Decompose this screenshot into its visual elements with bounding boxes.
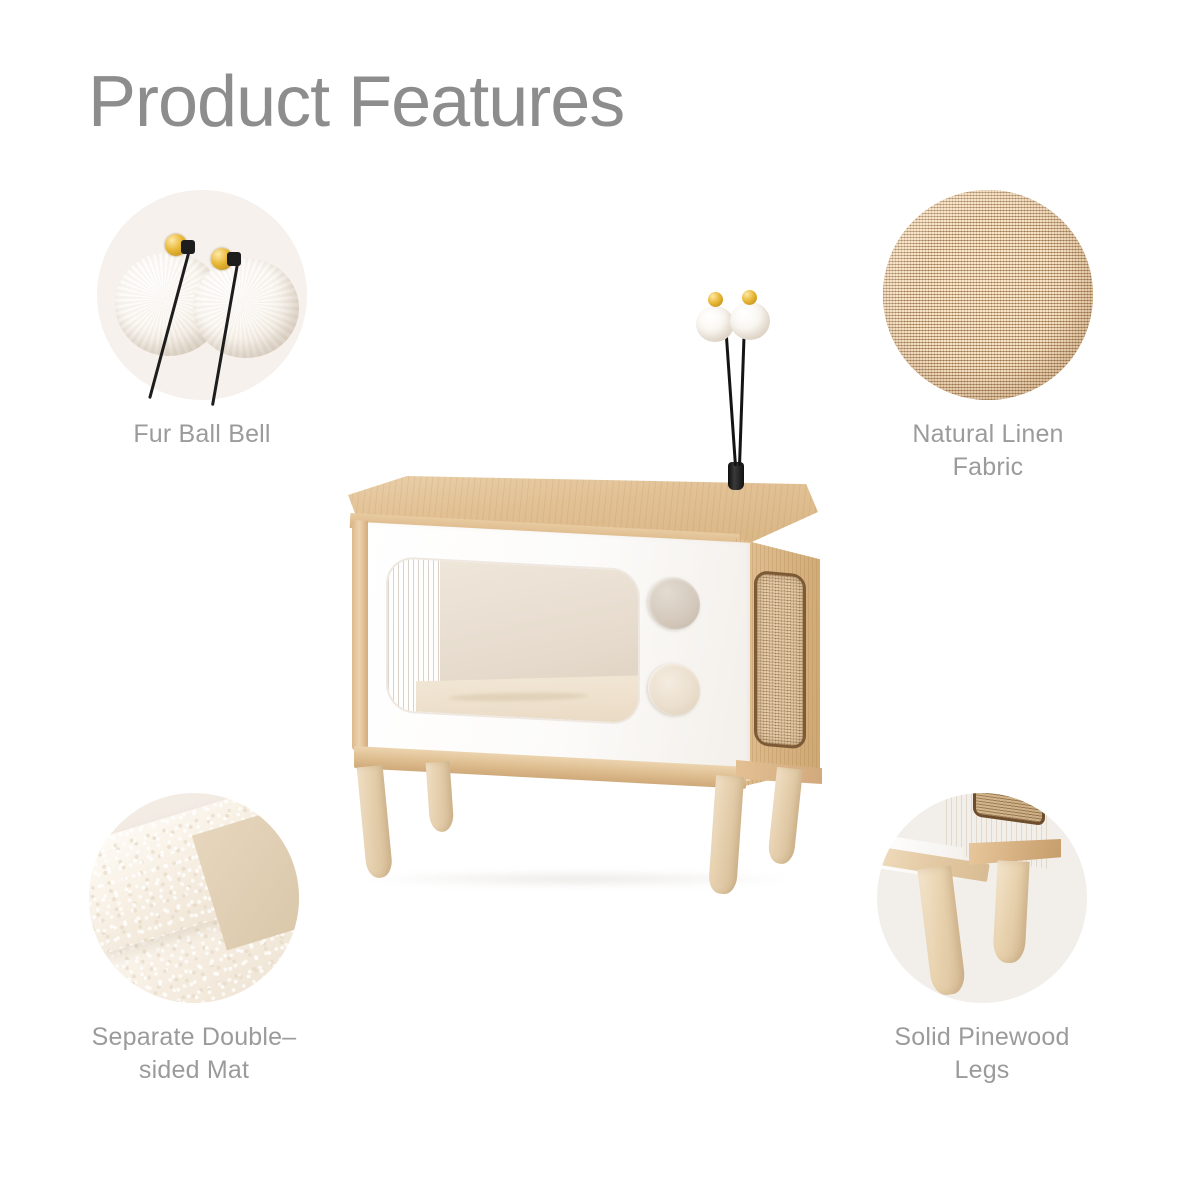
feature-separate-double-sided-mat: Separate Double– sided Mat xyxy=(44,793,344,1087)
mat-label-line-1: Separate Double– xyxy=(44,1021,344,1054)
toy-fur-ball-right xyxy=(730,302,770,340)
pinewood-leg-rear-closeup xyxy=(992,860,1029,964)
legs-label-line-1: Solid Pinewood xyxy=(832,1021,1132,1054)
feature-separate-double-sided-mat-label: Separate Double– sided Mat xyxy=(44,1021,344,1087)
fur-ball-right xyxy=(193,258,299,358)
feature-natural-linen-fabric-label: Natural Linen Fabric xyxy=(838,418,1138,484)
feature-solid-pinewood-legs-label: Solid Pinewood Legs xyxy=(832,1021,1132,1087)
fur-ball-bell-circle-background xyxy=(97,190,307,400)
fur-ball-bell-image xyxy=(97,190,307,400)
feature-fur-ball-bell-label: Fur Ball Bell xyxy=(52,418,352,451)
toy-mount-base xyxy=(728,462,744,490)
toy-fur-ball-left xyxy=(696,306,734,342)
mat-label-line-2: sided Mat xyxy=(44,1054,344,1087)
linen-label-line-1: Natural Linen xyxy=(838,418,1138,451)
legs-label-line-2: Legs xyxy=(832,1054,1132,1087)
linen-label-line-2: Fabric xyxy=(838,451,1138,484)
feature-natural-linen-fabric: Natural Linen Fabric xyxy=(838,190,1138,484)
double-sided-mat-image xyxy=(89,793,299,1003)
toy-bell-left-icon xyxy=(708,292,723,307)
toy-wire-left xyxy=(724,318,737,466)
feature-fur-ball-bell: Fur Ball Bell xyxy=(52,190,352,451)
page-title: Product Features xyxy=(88,66,624,138)
feature-solid-pinewood-legs: Solid Pinewood Legs xyxy=(832,793,1132,1087)
product-fur-ball-toy xyxy=(330,270,840,870)
mat-circle-background xyxy=(89,793,299,1003)
pinewood-leg-front-closeup xyxy=(917,865,966,996)
toy-bell-right-icon xyxy=(742,290,757,305)
legs-circle-background xyxy=(877,793,1087,1003)
linen-shading xyxy=(883,190,1093,400)
natural-linen-fabric-image xyxy=(883,190,1093,400)
solid-pinewood-legs-image xyxy=(877,793,1087,1003)
linen-circle-background xyxy=(883,190,1093,400)
